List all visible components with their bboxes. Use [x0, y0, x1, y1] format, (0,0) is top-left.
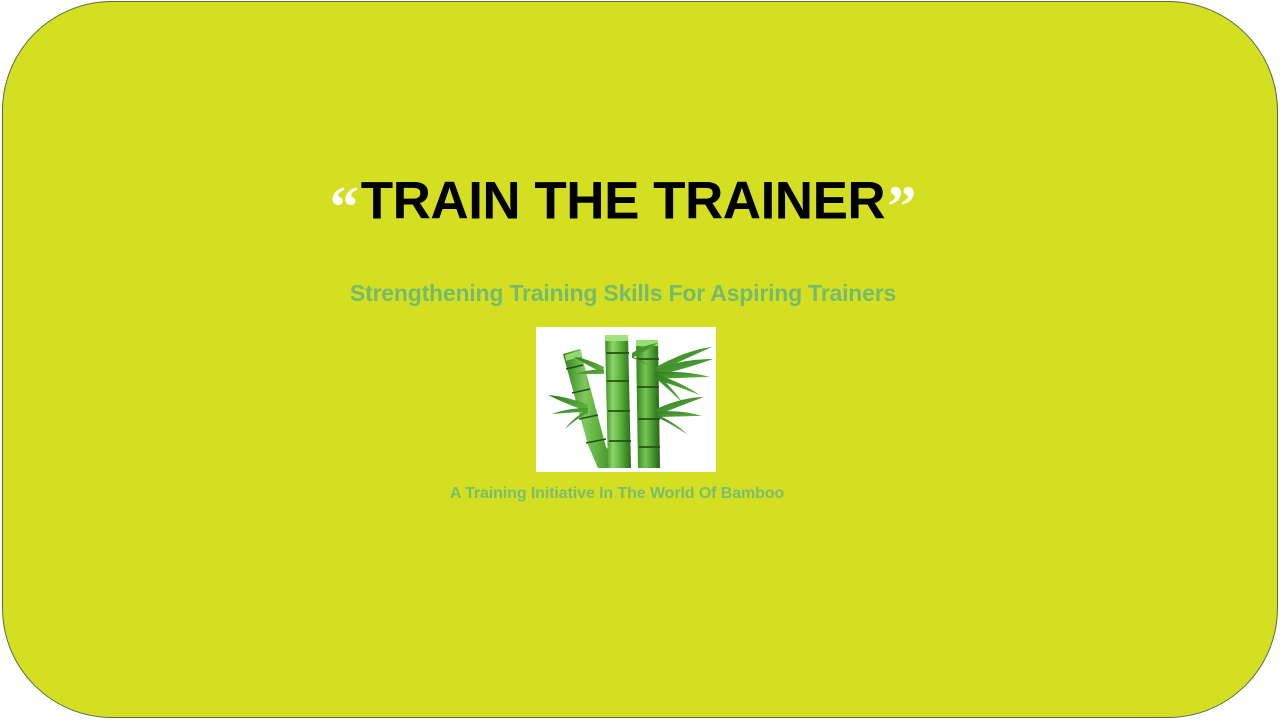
bamboo-illustration [536, 327, 716, 472]
slide-canvas: “TRAIN THE TRAINER” Strengthening Traini… [2, 1, 1278, 718]
caption-text: A Training Initiative In The World Of Ba… [3, 485, 1231, 503]
opening-quote-mark: “ [330, 174, 359, 239]
bamboo-illustration-svg [536, 327, 716, 472]
page-title: “TRAIN THE TRAINER” [3, 172, 1243, 230]
bamboo-stalk-right [636, 340, 660, 468]
title-text: TRAIN THE TRAINER [361, 172, 885, 231]
closing-quote-mark: ” [887, 174, 916, 239]
subtitle-text: Strengthening Training Skills For Aspiri… [3, 280, 1243, 307]
bamboo-stalk-center [605, 335, 631, 468]
